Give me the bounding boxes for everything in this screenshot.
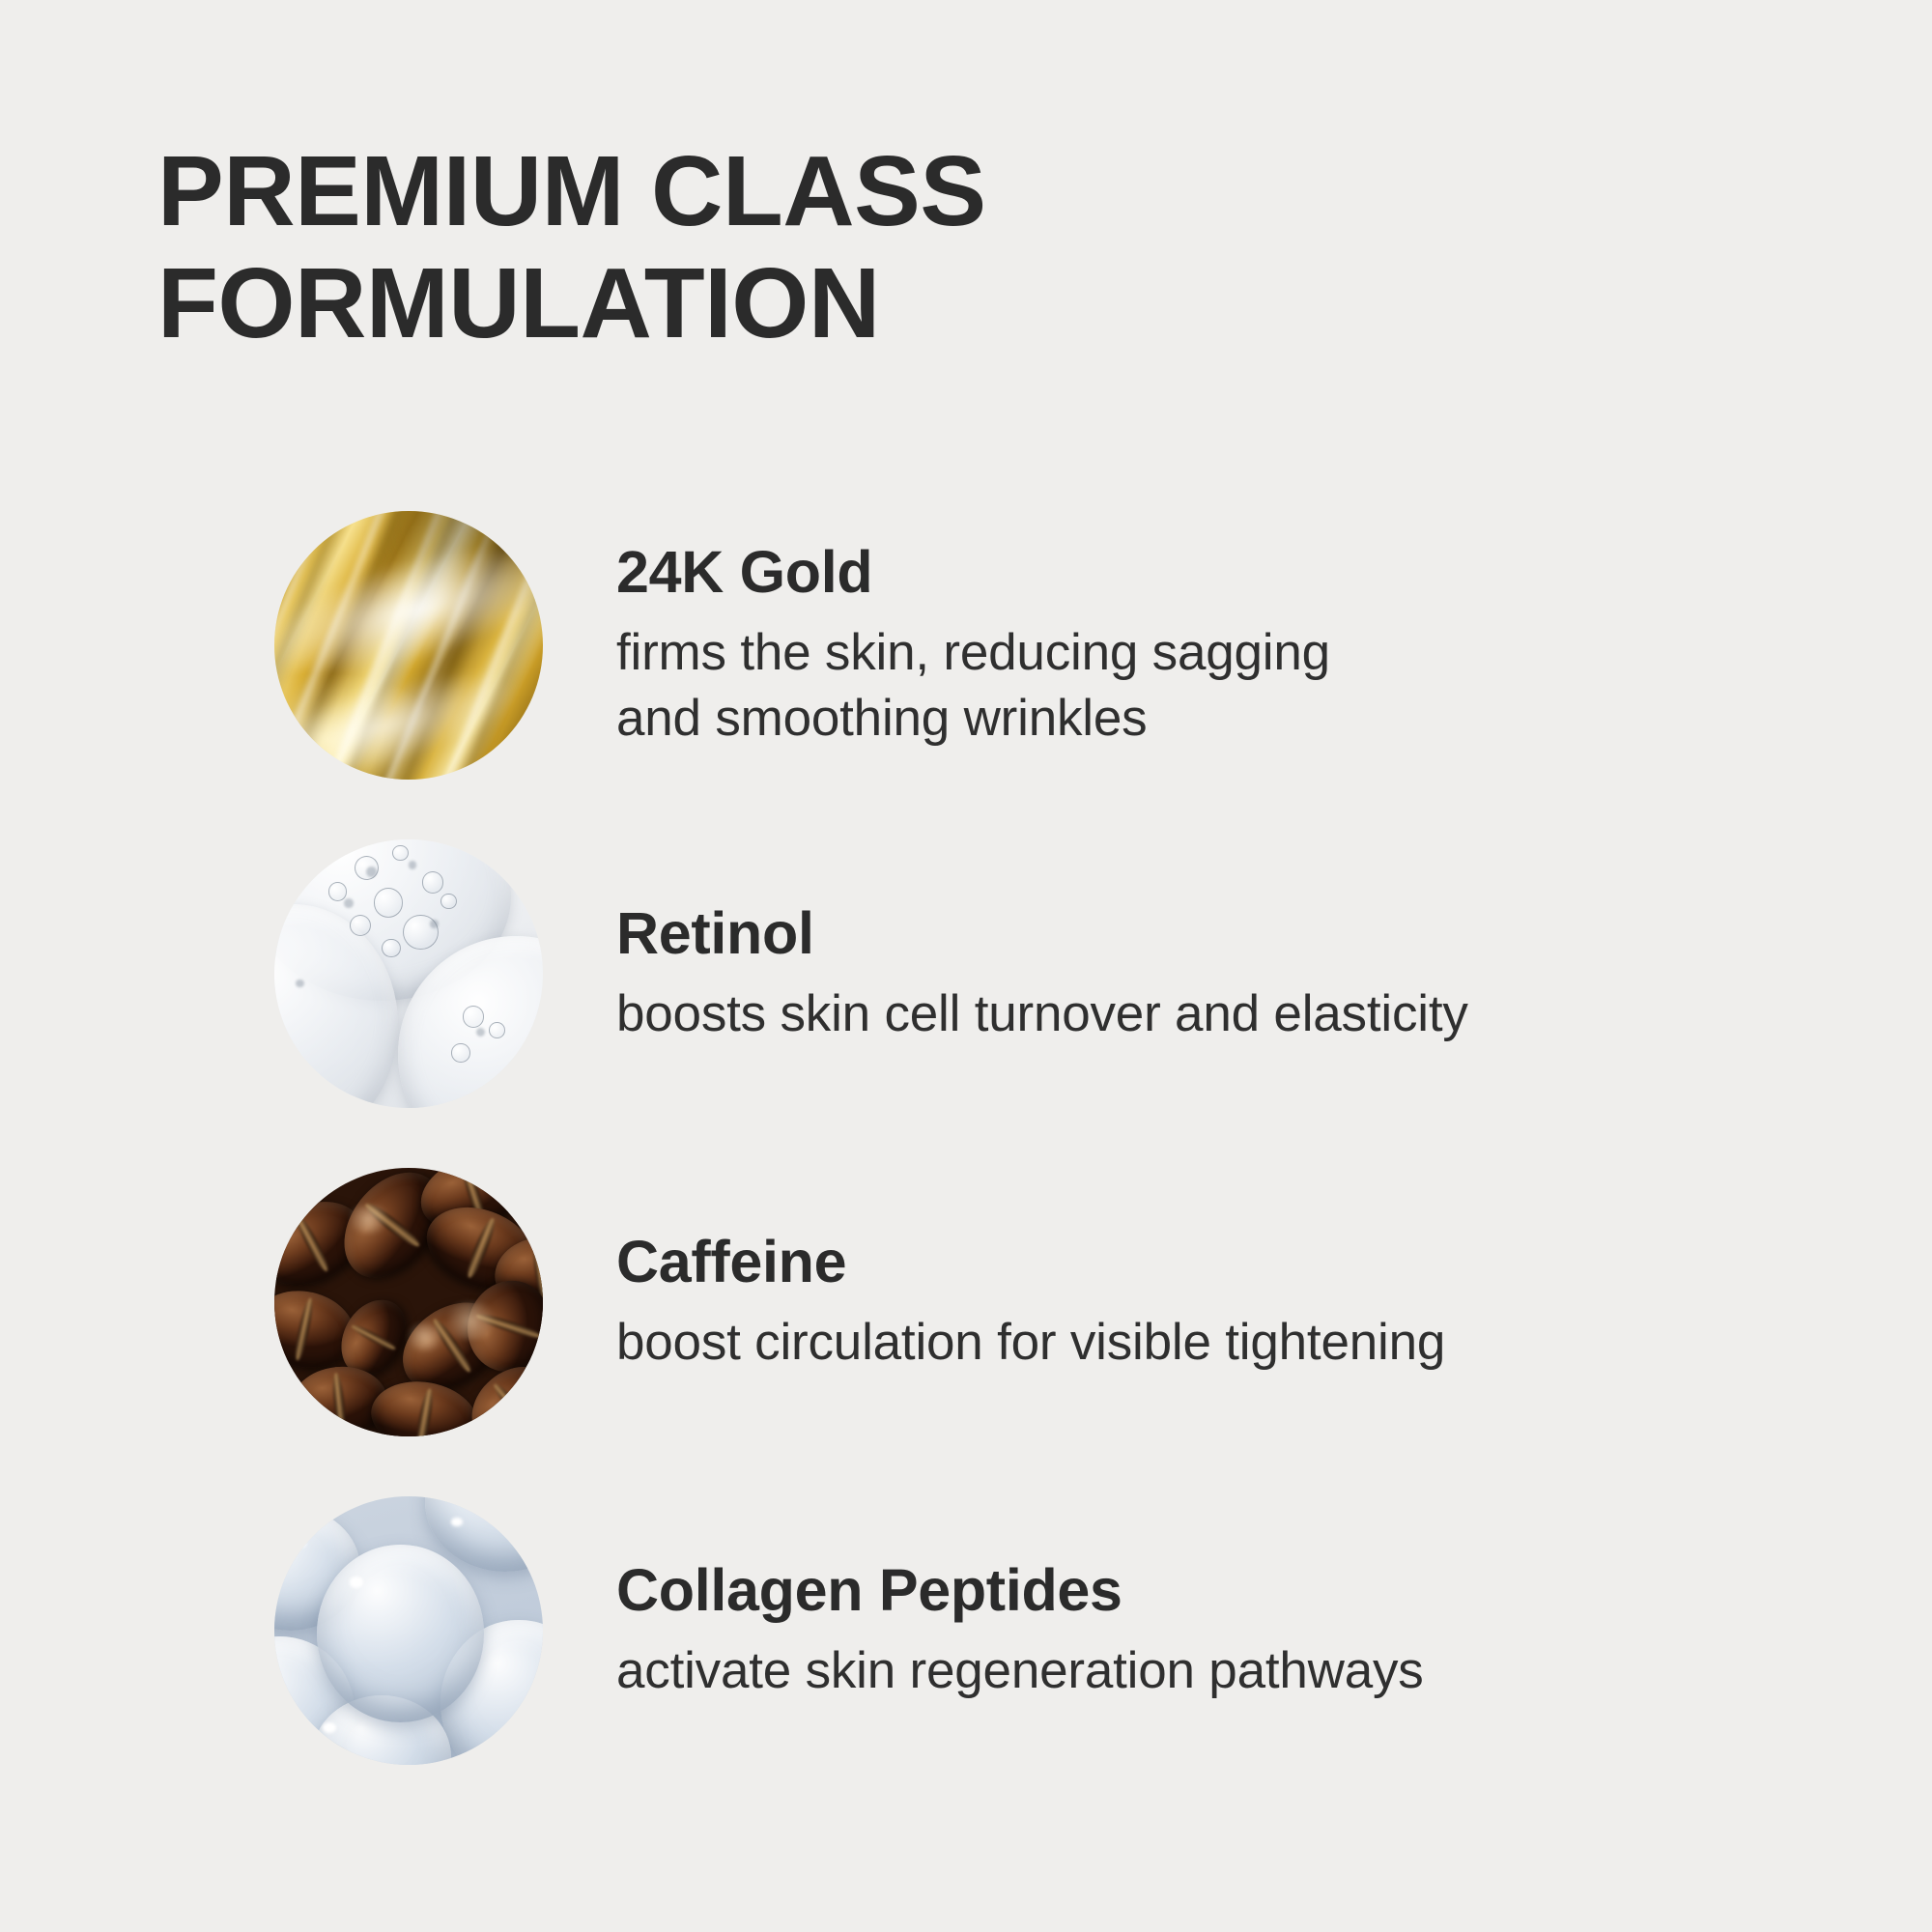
ingredient-description-line-1: firms the skin, reducing sagging <box>616 620 1330 686</box>
list-item: 24K Gold firms the skin, reducing saggin… <box>0 481 1932 810</box>
page-title-line-1: PREMIUM CLASS <box>157 135 1317 247</box>
ingredient-description: boost circulation for visible tightening <box>616 1310 1445 1376</box>
ingredient-description-line-1: activate skin regeneration pathways <box>616 1638 1424 1704</box>
formulation-poster: PREMIUM CLASS FORMULATION 24K Gold firms… <box>0 0 1932 1932</box>
ingredient-thumbnail-gold <box>274 511 543 780</box>
ingredient-copy: Retinol boosts skin cell turnover and el… <box>616 901 1468 1047</box>
list-item: Caffeine boost circulation for visible t… <box>0 1138 1932 1466</box>
ingredient-description-line-2: and smoothing wrinkles <box>616 686 1330 752</box>
ingredient-name: Caffeine <box>616 1230 1445 1294</box>
page-title: PREMIUM CLASS FORMULATION <box>157 135 1317 360</box>
ingredient-name: Collagen Peptides <box>616 1558 1424 1623</box>
ingredient-thumbnail-caffeine <box>274 1168 543 1436</box>
ingredient-copy: Caffeine boost circulation for visible t… <box>616 1230 1445 1376</box>
coffee-beans-icon <box>274 1168 543 1436</box>
ingredient-name: 24K Gold <box>616 540 1330 605</box>
ingredient-copy: Collagen Peptides activate skin regenera… <box>616 1558 1424 1704</box>
list-item: Collagen Peptides activate skin regenera… <box>0 1466 1932 1795</box>
ingredient-thumbnail-retinol <box>274 839 543 1108</box>
gold-swirl-icon <box>274 511 543 780</box>
ingredient-name: Retinol <box>616 901 1468 966</box>
page-title-line-2: FORMULATION <box>157 247 1317 359</box>
list-item: Retinol boosts skin cell turnover and el… <box>0 810 1932 1138</box>
ingredient-description: activate skin regeneration pathways <box>616 1638 1424 1704</box>
ingredient-description-line-1: boosts skin cell turnover and elasticity <box>616 981 1468 1047</box>
gel-bubbles-icon <box>274 839 543 1108</box>
ingredient-thumbnail-collagen <box>274 1496 543 1765</box>
ingredient-description: boosts skin cell turnover and elasticity <box>616 981 1468 1047</box>
droplets-icon <box>274 1496 543 1765</box>
ingredient-description: firms the skin, reducing sagging and smo… <box>616 620 1330 752</box>
ingredient-description-line-1: boost circulation for visible tightening <box>616 1310 1445 1376</box>
ingredient-copy: 24K Gold firms the skin, reducing saggin… <box>616 540 1330 752</box>
ingredient-list: 24K Gold firms the skin, reducing saggin… <box>0 481 1932 1795</box>
